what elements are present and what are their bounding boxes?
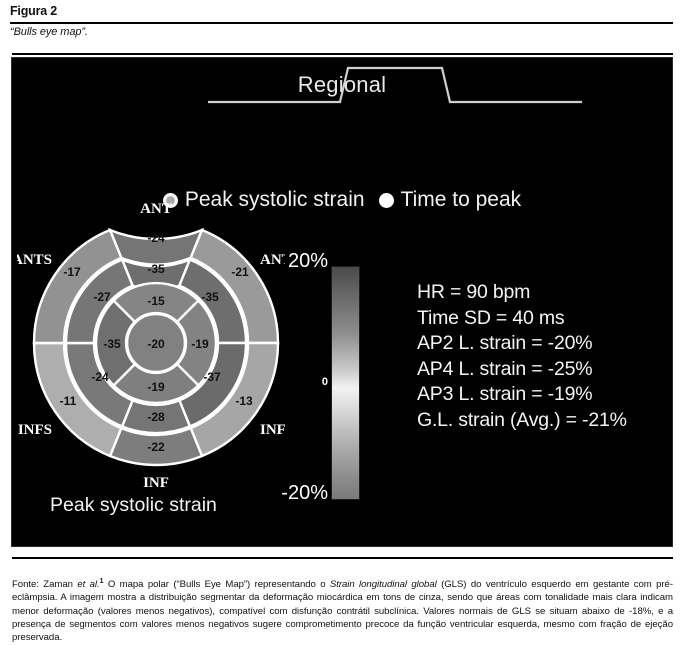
source-prefix: Fonte: Zaman bbox=[12, 579, 77, 590]
bullseye-svg[interactable]: -24 -21 -13 -22 -11 -17 -35 -35 -37 -28 … bbox=[17, 198, 285, 488]
segment-value-apex: -20 bbox=[147, 337, 165, 351]
bottom-divider bbox=[12, 557, 673, 559]
segment-value-apical-ant: -15 bbox=[147, 294, 165, 308]
figure-label: Figura 2 bbox=[10, 4, 57, 18]
measurements-block: HR = 90 bpm Time SD = 40 ms AP2 L. strai… bbox=[417, 280, 672, 433]
segment-value-basal-ant: -24 bbox=[147, 231, 165, 245]
source-caption: Fonte: Zaman et al.1 O mapa polar (“Bull… bbox=[12, 575, 673, 645]
segment-value-basal-infs: -11 bbox=[60, 394, 77, 408]
segment-value-basal-ants: -17 bbox=[63, 265, 81, 279]
measurement-gls-avg: G.L. strain (Avg.) = -21% bbox=[417, 408, 672, 434]
segment-value-mid-ant: -35 bbox=[147, 262, 165, 276]
segment-value-apical-inf: -19 bbox=[147, 380, 165, 394]
measurement-ap3: AP3 L. strain = -19% bbox=[417, 382, 672, 408]
bullseye-map[interactable]: -24 -21 -13 -22 -11 -17 -35 -35 -37 -28 … bbox=[17, 198, 285, 488]
mid-divider bbox=[12, 53, 673, 55]
measurement-hr: HR = 90 bpm bbox=[417, 280, 672, 306]
segment-value-mid-antl: -35 bbox=[201, 290, 219, 304]
measurement-ap4: AP4 L. strain = -25% bbox=[417, 357, 672, 383]
source-strain-term: Strain longitudinal global bbox=[330, 579, 437, 590]
tab-header: Regional bbox=[12, 62, 672, 110]
segment-value-apical-lat: -19 bbox=[191, 337, 209, 351]
source-body-1: O mapa polar (“Bulls Eye Map”) represent… bbox=[103, 579, 329, 590]
figure-page: Figura 2 “Bulls eye map”. Regional Peak … bbox=[0, 0, 683, 641]
segment-value-basal-infl: -13 bbox=[235, 394, 253, 408]
segment-value-basal-inf: -22 bbox=[147, 440, 165, 454]
figure-subtitle: “Bulls eye map”. bbox=[10, 26, 88, 38]
radio-unselected-icon[interactable] bbox=[379, 193, 394, 208]
wall-label-ant: ANT bbox=[140, 201, 172, 217]
legend-time-to-peak[interactable]: Time to peak bbox=[379, 188, 522, 212]
legend-label-time-to-peak: Time to peak bbox=[401, 188, 522, 212]
segment-value-mid-infl: -37 bbox=[203, 370, 221, 384]
top-divider bbox=[10, 22, 673, 24]
tab-regional[interactable]: Regional bbox=[298, 72, 386, 98]
measurement-ap2: AP2 L. strain = -20% bbox=[417, 331, 672, 357]
wall-label-inf: INF bbox=[143, 475, 169, 488]
source-et-al: et al. bbox=[77, 579, 99, 590]
colorbar: 20% 0 -20% bbox=[274, 208, 384, 498]
wall-label-infs: INFS bbox=[18, 422, 52, 438]
colorbar-bottom-label: -20% bbox=[274, 482, 328, 505]
segment-value-mid-inf: -28 bbox=[147, 410, 165, 424]
segment-value-mid-ants: -27 bbox=[93, 290, 111, 304]
measurement-time-sd: Time SD = 40 ms bbox=[417, 306, 672, 332]
colorbar-zero-label: 0 bbox=[304, 376, 328, 388]
wall-label-ants: ANTS bbox=[17, 252, 52, 268]
panel-bottom-caption: Peak systolic strain bbox=[50, 494, 217, 517]
colorbar-gradient bbox=[331, 266, 360, 500]
segment-value-mid-infs: -24 bbox=[91, 370, 109, 384]
segment-value-apical-sep: -35 bbox=[103, 337, 121, 351]
segment-value-basal-antl: -21 bbox=[231, 265, 249, 279]
colorbar-top-label: 20% bbox=[274, 250, 328, 273]
echo-bullseye-panel: Regional Peak systolic strain Time to pe… bbox=[12, 58, 672, 546]
